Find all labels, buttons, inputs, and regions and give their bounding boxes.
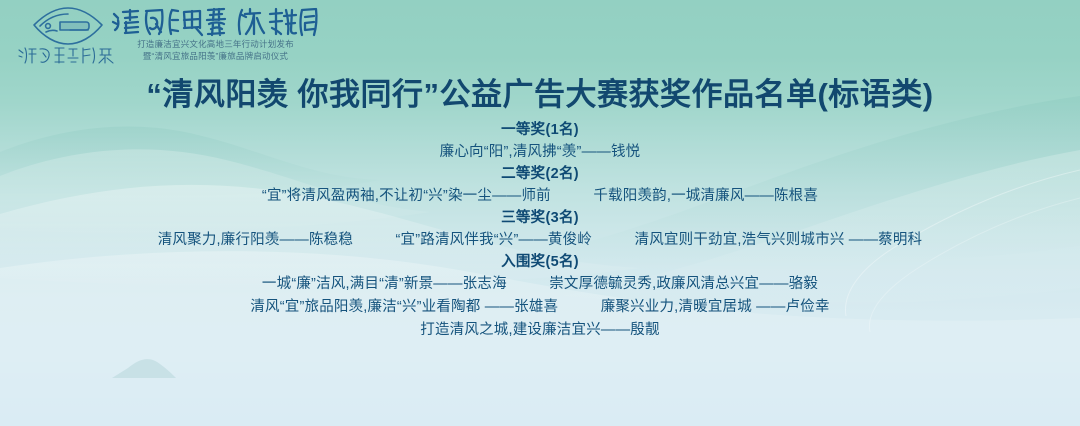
award-entry: 打造清风之城,建设廉洁宜兴——殷靓 — [420, 319, 659, 342]
award-heading: 三等奖(3名) — [0, 208, 1080, 229]
award-heading: 一等奖(1名) — [0, 120, 1080, 141]
award-row: 清风聚力,廉行阳羡——陈稳稳 “宜”路清风伴我“兴”——黄俊岭 清风宜则干劲宜,… — [0, 229, 1080, 252]
award-heading: 入围奖(5名) — [0, 252, 1080, 273]
award-entry: 一城“廉”洁风,满目“清”新景——张志海 — [262, 273, 507, 296]
event-subtitle-line-1: 打造廉洁宜兴文化高地三年行动计划发布 — [108, 39, 323, 51]
award-group-first: 一等奖(1名) 廉心向“阳”,清风拂“羡”——钱悦 — [0, 120, 1080, 164]
award-row: 清风“宜”旅品阳羡,廉洁“兴”业看陶都 ——张雄喜 廉聚兴业力,清暖宜居城 ——… — [0, 296, 1080, 319]
award-group-shortlist: 入围奖(5名) 一城“廉”洁风,满目“清”新景——张志海 崇文厚德毓灵秀,政廉风… — [0, 252, 1080, 342]
event-subtitle-lines: 打造廉洁宜兴文化高地三年行动计划发布 暨“清风宜旅品阳羡”廉旅品牌启动仪式 — [108, 39, 323, 62]
award-entry: 清风宜则干劲宜,浩气兴则城市兴 ——蔡明科 — [635, 229, 923, 252]
award-row: 打造清风之城,建设廉洁宜兴——殷靓 — [0, 319, 1080, 342]
award-list: 一等奖(1名) 廉心向“阳”,清风拂“羡”——钱悦 二等奖(2名) “宜”将清风… — [0, 120, 1080, 342]
award-row: 一城“廉”洁风,满目“清”新景——张志海 崇文厚德毓灵秀,政廉风清总兴宜——骆毅 — [0, 273, 1080, 296]
award-row: 廉心向“阳”,清风拂“羡”——钱悦 — [0, 141, 1080, 164]
award-group-second: 二等奖(2名) “宜”将清风盈两袖,不让初“兴”染一尘——师前 千载阳羡韵,一城… — [0, 164, 1080, 208]
award-entry: 千载阳羡韵,一城清廉风——陈根喜 — [593, 185, 818, 208]
slogan-calligraphy — [108, 6, 323, 38]
event-slogan-block: 打造廉洁宜兴文化高地三年行动计划发布 暨“清风宜旅品阳羡”廉旅品牌启动仪式 — [108, 6, 323, 66]
logo-wordmark — [16, 44, 120, 66]
event-subtitle-line-2: 暨“清风宜旅品阳羡”廉旅品牌启动仪式 — [108, 51, 323, 63]
award-entry: 廉心向“阳”,清风拂“羡”——钱悦 — [440, 141, 641, 164]
award-entry: 廉聚兴业力,清暖宜居城 ——卢俭幸 — [601, 296, 830, 319]
award-group-third: 三等奖(3名) 清风聚力,廉行阳羡——陈稳稳 “宜”路清风伴我“兴”——黄俊岭 … — [0, 208, 1080, 252]
award-entry: 清风“宜”旅品阳羡,廉洁“兴”业看陶都 ——张雄喜 — [250, 296, 558, 319]
poster-canvas: 打造廉洁宜兴文化高地三年行动计划发布 暨“清风宜旅品阳羡”廉旅品牌启动仪式 “清… — [0, 0, 1080, 426]
mountain-teapot-emblem-icon — [30, 6, 106, 46]
award-entry: 崇文厚德毓灵秀,政廉风清总兴宜——骆毅 — [549, 273, 818, 296]
award-row: “宜”将清风盈两袖,不让初“兴”染一尘——师前 千载阳羡韵,一城清廉风——陈根喜 — [0, 185, 1080, 208]
brand-logo — [16, 6, 120, 68]
award-heading: 二等奖(2名) — [0, 164, 1080, 185]
page-title: “清风阳羡 你我同行”公益广告大赛获奖作品名单(标语类) — [0, 76, 1080, 114]
poster-header: 打造廉洁宜兴文化高地三年行动计划发布 暨“清风宜旅品阳羡”廉旅品牌启动仪式 — [0, 0, 1080, 72]
award-entry: “宜”将清风盈两袖,不让初“兴”染一尘——师前 — [262, 185, 551, 208]
award-entry: “宜”路清风伴我“兴”——黄俊岭 — [396, 229, 593, 252]
award-entry: 清风聚力,廉行阳羡——陈稳稳 — [158, 229, 353, 252]
